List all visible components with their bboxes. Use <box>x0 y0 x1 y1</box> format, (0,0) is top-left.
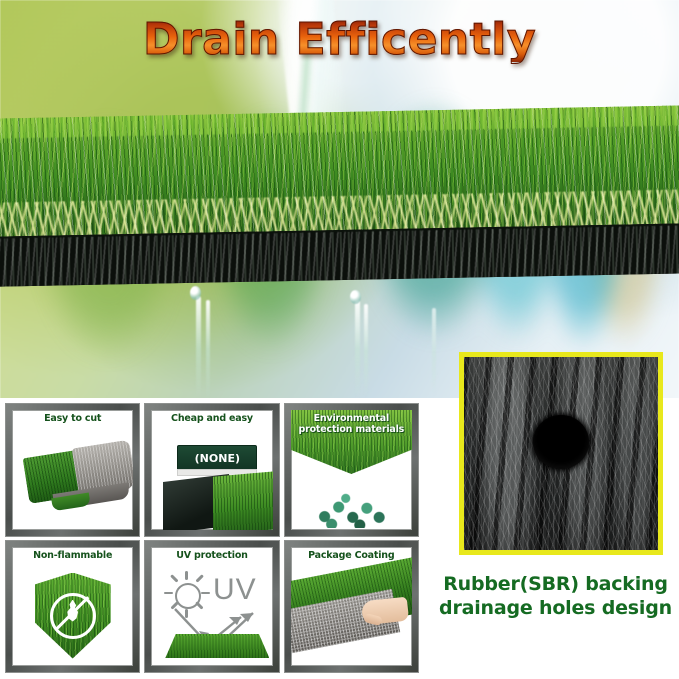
drainage-hole <box>533 415 589 469</box>
feature-card-title: Non-flammable <box>12 550 133 561</box>
hero-photo: Drain Efficently <box>0 0 679 400</box>
sun-ray-icon <box>196 574 204 582</box>
water-droplet <box>350 290 361 304</box>
feature-card-environmental-protection-materials[interactable]: Environmental protection materials <box>285 404 418 536</box>
resin-pellets-icon <box>307 490 395 528</box>
feature-card-easy-to-cut[interactable]: Easy to cut <box>6 404 139 536</box>
rolled-turf-icon <box>23 442 134 510</box>
feature-card-package-coating[interactable]: Package Coating <box>285 541 418 673</box>
uv-label: UV <box>213 575 257 605</box>
feature-card-title: UV protection <box>151 550 272 561</box>
drainage-drip <box>196 296 201 400</box>
none-sign-label: (NONE) <box>195 452 240 465</box>
turf-cross-section <box>0 105 679 293</box>
feature-card-title: Easy to cut <box>12 413 133 424</box>
caption-line-2: drainage holes design <box>432 596 679 620</box>
green-turf-sheet <box>213 471 275 534</box>
none-sign: (NONE) <box>177 445 257 471</box>
feature-card-uv-protection[interactable]: UV protection UV <box>145 541 278 673</box>
feature-card-non-flammable[interactable]: Non-flammable <box>6 541 139 673</box>
feature-card-cheap-and-easy[interactable]: Cheap and easy (NONE) <box>145 404 278 536</box>
sun-ray-icon <box>164 592 173 595</box>
turf-swatch <box>165 634 269 658</box>
rubber-panel-caption: Rubber(SBR) backing drainage holes desig… <box>432 572 679 621</box>
rubber-backing-closeup <box>459 352 663 555</box>
water-droplet <box>190 286 201 300</box>
product-feature-image: Drain Efficently Easy to cut Cheap and e… <box>0 0 679 679</box>
drainage-drip <box>355 300 360 398</box>
drainage-drip <box>364 304 368 398</box>
caption-line-1: Rubber(SBR) backing <box>432 572 679 596</box>
feature-card-title: Package Coating <box>291 550 412 561</box>
feature-card-grid: Easy to cut Cheap and easy (NONE) <box>6 404 418 672</box>
feature-card-title: Environmental protection materials <box>291 413 412 435</box>
page-title: Drain Efficently <box>0 18 679 62</box>
drainage-drip <box>206 300 210 400</box>
sun-ray-icon <box>171 574 179 582</box>
sun-ray-icon <box>201 592 210 595</box>
sun-ray-icon <box>185 571 188 580</box>
feature-card-title: Cheap and easy <box>151 413 272 424</box>
shield-icon <box>35 573 111 659</box>
drainage-drip <box>432 308 436 396</box>
